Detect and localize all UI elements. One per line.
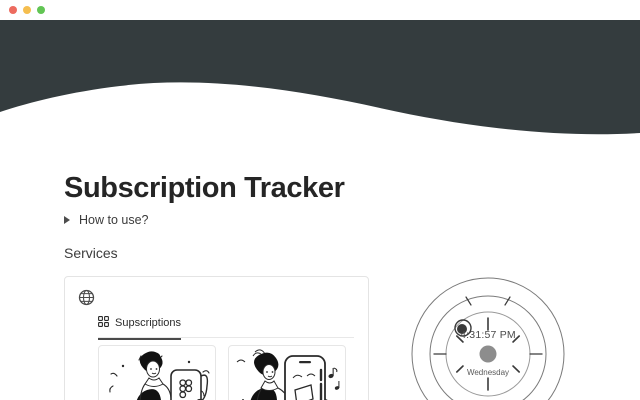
page-title: Subscription Tracker bbox=[64, 172, 345, 205]
caret-right-icon[interactable] bbox=[64, 216, 70, 224]
globe-icon bbox=[78, 289, 95, 306]
tab-supscriptions[interactable]: Supscriptions bbox=[98, 314, 181, 340]
clock-day: Wednesday bbox=[400, 368, 576, 377]
section-heading-services: Services bbox=[64, 245, 118, 261]
tab-label: Supscriptions bbox=[115, 317, 181, 329]
maximize-button[interactable] bbox=[37, 6, 45, 14]
services-embed-card[interactable]: Supscriptions bbox=[64, 276, 369, 400]
toggle-label: How to use? bbox=[79, 213, 148, 227]
embed-tabbar: Supscriptions bbox=[98, 314, 368, 338]
clock-time: 4:31:57 PM bbox=[400, 329, 576, 341]
grid-icon bbox=[98, 314, 109, 332]
service-thumbnail-list bbox=[98, 345, 346, 400]
how-to-use-toggle[interactable]: How to use? bbox=[64, 213, 148, 227]
service-card-music[interactable] bbox=[228, 345, 346, 400]
service-card-figma[interactable] bbox=[98, 345, 216, 400]
window-titlebar bbox=[0, 0, 640, 20]
clock-widget: 4:31:57 PM Wednesday bbox=[400, 266, 576, 400]
minimize-button[interactable] bbox=[23, 6, 31, 14]
close-button[interactable] bbox=[9, 6, 17, 14]
